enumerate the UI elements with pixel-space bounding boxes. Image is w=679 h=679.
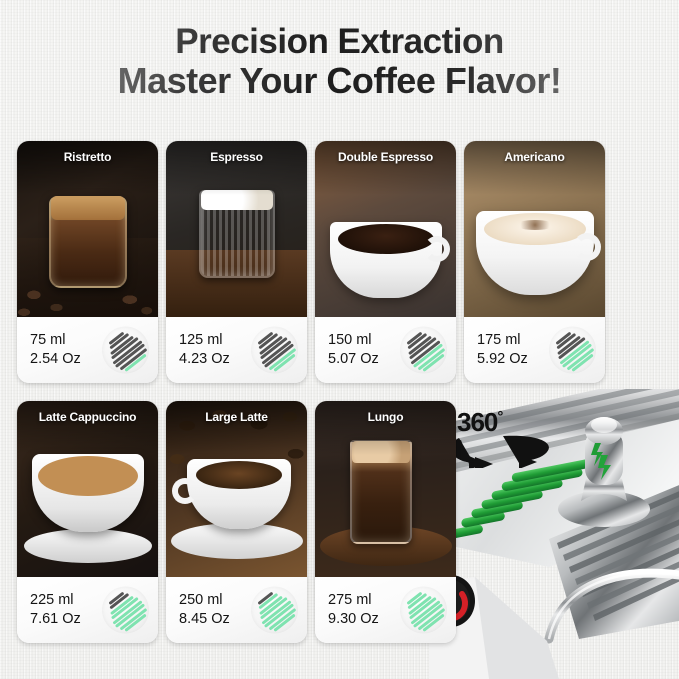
artwork-handle bbox=[573, 233, 601, 261]
drink-card[interactable]: Americano175 ml5.92 Oz bbox=[464, 141, 605, 383]
drink-name-label: Americano bbox=[464, 150, 605, 164]
artwork-handle bbox=[424, 236, 450, 262]
gauge-bars bbox=[549, 327, 596, 374]
volume-ml: 225 ml bbox=[30, 591, 81, 610]
drink-name-label: Large Latte bbox=[166, 410, 307, 424]
gauge-bars bbox=[251, 327, 298, 374]
drink-name-label: Double Espresso bbox=[315, 150, 456, 164]
volume-text: 75 ml2.54 Oz bbox=[30, 331, 81, 368]
headline-line-2: Master Your Coffee Flavor! bbox=[0, 61, 679, 101]
volume-text: 275 ml9.30 Oz bbox=[328, 591, 379, 628]
volume-oz: 9.30 Oz bbox=[328, 610, 379, 629]
volume-oz: 8.45 Oz bbox=[179, 610, 230, 629]
artwork-dust bbox=[515, 220, 555, 230]
gauge-bars bbox=[102, 587, 149, 634]
drink-card[interactable]: Large Latte250 ml8.45 Oz bbox=[166, 401, 307, 643]
volume-oz: 2.54 Oz bbox=[30, 350, 81, 369]
drink-card[interactable]: Lungo275 ml9.30 Oz bbox=[315, 401, 456, 643]
volume-ml: 150 ml bbox=[328, 331, 379, 350]
drink-photo: Latte Cappuccino bbox=[17, 401, 158, 577]
espresso-machine-illustration: 360° bbox=[429, 389, 679, 679]
volume-oz: 7.61 Oz bbox=[30, 610, 81, 629]
artwork-liquid bbox=[196, 461, 282, 489]
drink-volume-panel: 75 ml2.54 Oz bbox=[17, 317, 158, 383]
page-title: Precision Extraction Master Your Coffee … bbox=[0, 22, 679, 102]
volume-ml: 125 ml bbox=[179, 331, 230, 350]
drink-card[interactable]: Latte Cappuccino225 ml7.61 Oz bbox=[17, 401, 158, 643]
fill-level-gauge-icon bbox=[102, 327, 149, 374]
drink-photo: Ristretto bbox=[17, 141, 158, 317]
degree-symbol: ° bbox=[497, 408, 502, 425]
drink-volume-panel: 150 ml5.07 Oz bbox=[315, 317, 456, 383]
drink-volume-panel: 225 ml7.61 Oz bbox=[17, 577, 158, 643]
drink-card-row-2: Latte Cappuccino225 ml7.61 OzLarge Latte… bbox=[17, 401, 456, 643]
drink-photo: Espresso bbox=[166, 141, 307, 317]
drink-volume-panel: 125 ml4.23 Oz bbox=[166, 317, 307, 383]
drink-name-label: Lungo bbox=[315, 410, 456, 424]
drink-volume-panel: 175 ml5.92 Oz bbox=[464, 317, 605, 383]
drink-name-label: Latte Cappuccino bbox=[17, 410, 158, 424]
volume-ml: 75 ml bbox=[30, 331, 81, 350]
gauge-bars bbox=[102, 327, 149, 374]
fill-level-gauge-icon bbox=[251, 587, 298, 634]
volume-oz: 5.92 Oz bbox=[477, 350, 528, 369]
fill-level-gauge-icon bbox=[400, 587, 447, 634]
volume-text: 125 ml4.23 Oz bbox=[179, 331, 230, 368]
volume-ml: 250 ml bbox=[179, 591, 230, 610]
fill-level-gauge-icon bbox=[549, 327, 596, 374]
drink-photo: Large Latte bbox=[166, 401, 307, 577]
drink-photo: Americano bbox=[464, 141, 605, 317]
drink-card[interactable]: Double Espresso150 ml5.07 Oz bbox=[315, 141, 456, 383]
headline-line-1: Precision Extraction bbox=[0, 22, 679, 61]
volume-ml: 175 ml bbox=[477, 331, 528, 350]
gauge-bars bbox=[400, 327, 447, 374]
gauge-bars bbox=[400, 587, 447, 634]
volume-ml: 275 ml bbox=[328, 591, 379, 610]
artwork-crema bbox=[51, 196, 125, 220]
volume-text: 175 ml5.92 Oz bbox=[477, 331, 528, 368]
drink-name-label: Espresso bbox=[166, 150, 307, 164]
fill-level-gauge-icon bbox=[251, 327, 298, 374]
360-rotation-badge: 360° bbox=[457, 407, 563, 473]
drink-photo: Lungo bbox=[315, 401, 456, 577]
drink-card[interactable]: Espresso125 ml4.23 Oz bbox=[166, 141, 307, 383]
drink-volume-panel: 250 ml8.45 Oz bbox=[166, 577, 307, 643]
artwork-art bbox=[38, 456, 138, 496]
drink-card-row-1: Ristretto75 ml2.54 OzEspresso125 ml4.23 … bbox=[17, 141, 605, 383]
fill-level-gauge-icon bbox=[102, 587, 149, 634]
fill-level-gauge-icon bbox=[400, 327, 447, 374]
volume-oz: 5.07 Oz bbox=[328, 350, 379, 369]
gauge-bars bbox=[251, 587, 298, 634]
drink-photo: Double Espresso bbox=[315, 141, 456, 317]
volume-oz: 4.23 Oz bbox=[179, 350, 230, 369]
drink-volume-panel: 275 ml9.30 Oz bbox=[315, 577, 456, 643]
drink-card[interactable]: Ristretto75 ml2.54 Oz bbox=[17, 141, 158, 383]
drink-name-label: Ristretto bbox=[17, 150, 158, 164]
volume-text: 150 ml5.07 Oz bbox=[328, 331, 379, 368]
volume-text: 225 ml7.61 Oz bbox=[30, 591, 81, 628]
artwork-saucer bbox=[24, 529, 152, 563]
volume-text: 250 ml8.45 Oz bbox=[179, 591, 230, 628]
artwork-liquid bbox=[338, 224, 434, 254]
rotation-arrows-icon bbox=[445, 432, 563, 468]
